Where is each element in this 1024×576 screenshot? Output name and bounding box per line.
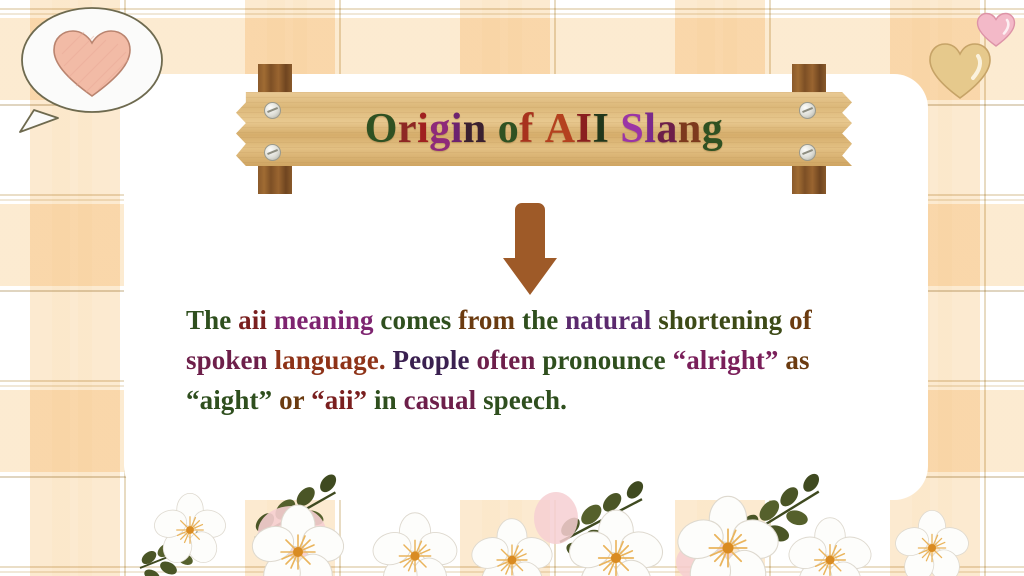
heart-pink-decoration xyxy=(976,12,1016,48)
title-letter-8: f xyxy=(519,105,534,153)
floral-band-icon xyxy=(0,456,1024,576)
page-title: Origin of AII Slang xyxy=(236,90,852,168)
body-word-12: often xyxy=(476,345,535,375)
body-word-18: “aii” xyxy=(311,385,367,415)
speech-bubble-icon xyxy=(6,2,172,134)
title-letter-14: S xyxy=(620,105,644,153)
body-word-21: speech. xyxy=(483,385,567,415)
body-word-4: from xyxy=(458,305,515,335)
title-letter-12: I xyxy=(592,105,609,153)
body-word-2: meaning xyxy=(274,305,374,335)
body-word-11: People xyxy=(393,345,470,375)
body-word-14: “alright” xyxy=(673,345,779,375)
title-letter-3: g xyxy=(429,105,451,153)
down-arrow-icon xyxy=(501,199,559,299)
title-letter-1: r xyxy=(398,105,417,153)
title-letter-16: a xyxy=(656,105,678,153)
heart-icon xyxy=(976,12,1016,48)
body-word-8: of xyxy=(789,305,812,335)
wooden-sign: Origin of AII Slang xyxy=(236,64,852,194)
slide-canvas: Origin of AII Slang The aii meaning come… xyxy=(0,0,1024,576)
body-word-7: shortening xyxy=(658,305,782,335)
body-word-0: The xyxy=(186,305,231,335)
title-letter-11: I xyxy=(576,105,593,153)
heart-tan-decoration xyxy=(928,42,992,100)
title-letter-7: o xyxy=(498,105,520,153)
body-word-6: natural xyxy=(565,305,651,335)
title-letter-2: i xyxy=(417,105,429,153)
title-letter-5: n xyxy=(463,105,487,153)
body-word-17: or xyxy=(279,385,304,415)
title-letter-0: O xyxy=(365,105,398,153)
body-word-13: pronounce xyxy=(542,345,665,375)
title-letter-6 xyxy=(487,105,498,153)
pink-blossom xyxy=(534,492,578,544)
heart-icon xyxy=(928,42,992,100)
title-letter-17: n xyxy=(678,105,702,153)
floral-decoration xyxy=(0,456,1024,576)
body-word-10: language. xyxy=(275,345,386,375)
title-letter-15: l xyxy=(644,105,656,153)
body-paragraph: The aii meaning comes from the natural s… xyxy=(186,300,892,420)
body-word-19: in xyxy=(374,385,397,415)
body-word-9: spoken xyxy=(186,345,268,375)
title-letter-10: A xyxy=(545,105,576,153)
body-word-1: aii xyxy=(238,305,267,335)
body-word-3: comes xyxy=(380,305,451,335)
title-letter-9 xyxy=(534,105,545,153)
body-word-16: “aight” xyxy=(186,385,272,415)
body-word-5: the xyxy=(522,305,558,335)
body-word-15: as xyxy=(785,345,809,375)
title-letter-13 xyxy=(609,105,620,153)
title-letter-18: g xyxy=(702,105,724,153)
speech-bubble-decoration xyxy=(6,2,172,134)
body-word-20: casual xyxy=(404,385,477,415)
title-letter-4: i xyxy=(451,105,463,153)
